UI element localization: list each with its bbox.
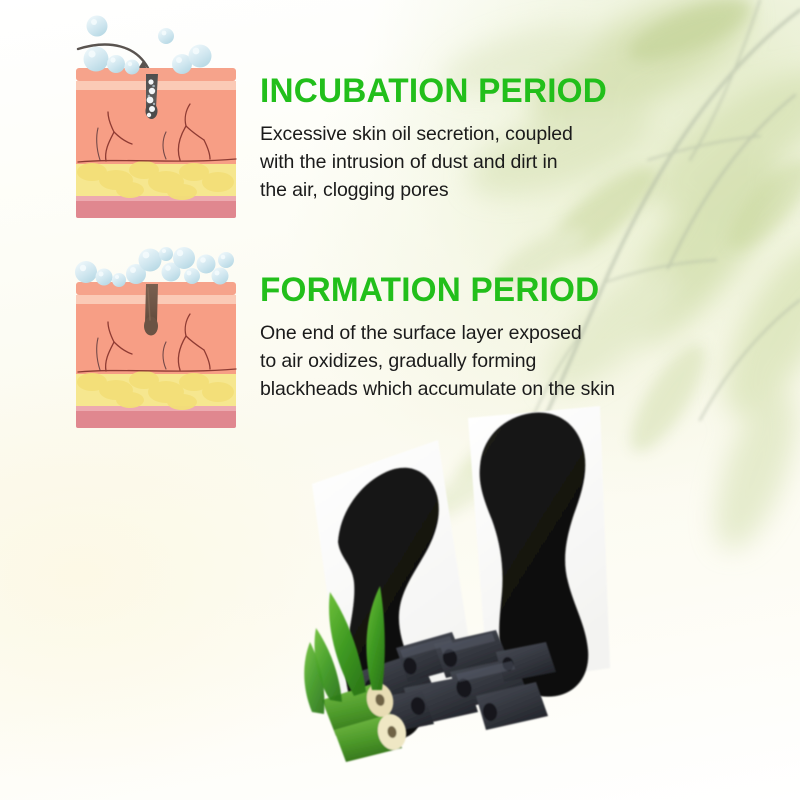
section-heading-formation: FORMATION PERIOD: [260, 271, 687, 309]
clogged-pore: [146, 74, 159, 119]
diagram-formation: [70, 236, 242, 432]
oil-bubbles-foam: [75, 247, 234, 287]
infographic-page: INCUBATION PERIOD Excessive skin oil sec…: [0, 0, 800, 800]
product-photo-charcoal-nose-strips: [300, 400, 800, 800]
section-formation-text: FORMATION PERIOD One end of the surface …: [260, 271, 696, 403]
body-line: Excessive skin oil secretion, coupled: [260, 120, 660, 148]
body-line: with the intrusion of dust and dirt in: [260, 148, 660, 176]
blackhead-plug: [144, 284, 158, 336]
body-line: to air oxidizes, gradually forming: [260, 347, 696, 375]
section-heading-incubation: INCUBATION PERIOD: [260, 72, 652, 110]
diagram-incubation: [70, 12, 242, 224]
body-line: blackheads which accumulate on the skin: [260, 375, 696, 403]
section-incubation-text: INCUBATION PERIOD Excessive skin oil sec…: [260, 72, 660, 204]
section-body-formation: One end of the surface layer exposed to …: [260, 319, 696, 403]
section-body-incubation: Excessive skin oil secretion, coupled wi…: [260, 120, 660, 204]
body-line: the air, clogging pores: [260, 176, 660, 204]
body-line: One end of the surface layer exposed: [260, 319, 696, 347]
